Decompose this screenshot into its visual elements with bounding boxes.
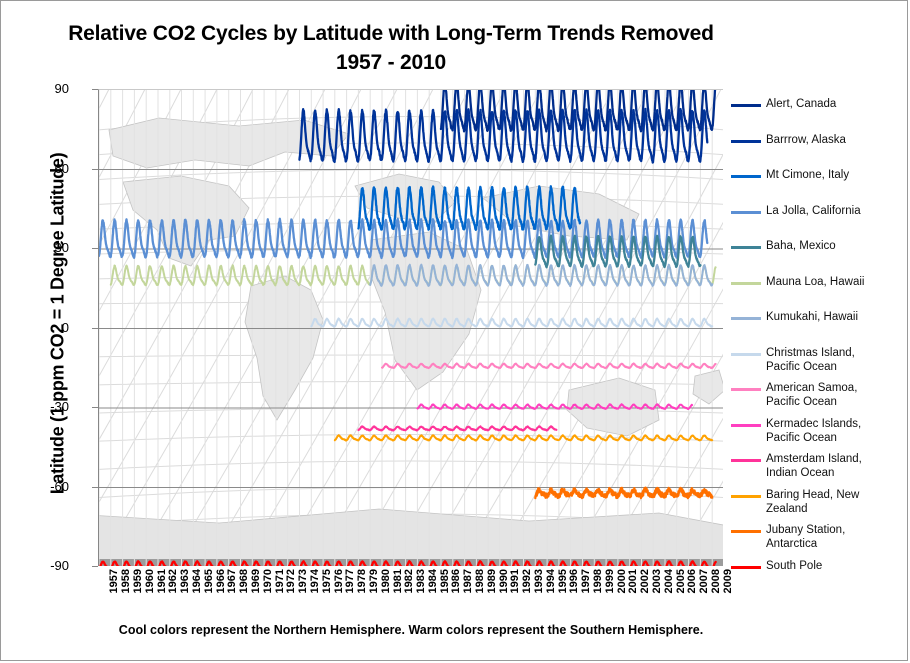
legend-item-label: Jubany Station, Antarctica	[766, 523, 845, 551]
x-axis-tick-label: 1985	[439, 569, 451, 593]
x-axis-tick-label: 2006	[686, 569, 698, 593]
legend-color-swatch	[731, 211, 761, 214]
legend-item[interactable]: American Samoa, Pacific Ocean	[731, 381, 857, 409]
x-axis-tick-label: 1996	[568, 569, 580, 593]
x-axis-tick-label: 1998	[592, 569, 604, 593]
x-axis-tick-label: 1957	[108, 569, 120, 593]
chart-title-line2: 1957 - 2010	[61, 48, 721, 77]
legend-item-label: Mauna Loa, Hawaii	[766, 275, 864, 289]
legend-color-swatch	[731, 246, 761, 249]
x-axis-tick-label: 1979	[368, 569, 380, 593]
x-axis-tick-label: 1984	[427, 569, 439, 593]
x-axis-tick-label: 2007	[698, 569, 710, 593]
y-axis-tick-label: 60	[29, 161, 69, 176]
legend-item-label: Kermadec Islands, Pacific Ocean	[766, 417, 861, 445]
legend-color-swatch	[731, 459, 761, 462]
legend-item[interactable]: Baha, Mexico	[731, 239, 836, 253]
x-axis-tick-label: 2002	[639, 569, 651, 593]
chart-title: Relative CO2 Cycles by Latitude with Lon…	[61, 19, 721, 77]
y-axis-tick-label: -30	[29, 399, 69, 414]
legend-item[interactable]: Kermadec Islands, Pacific Ocean	[731, 417, 861, 445]
legend-item[interactable]: Barrrow, Alaska	[731, 133, 846, 147]
legend-color-swatch	[731, 530, 761, 533]
x-axis-tick-label: 1978	[356, 569, 368, 593]
y-axis-tick-mark	[92, 566, 98, 567]
legend-color-swatch	[731, 317, 761, 320]
x-axis-tick-label: 1961	[156, 569, 168, 593]
x-axis-tick-label: 1990	[498, 569, 510, 593]
legend-item-label: Amsterdam Island, Indian Ocean	[766, 452, 862, 480]
legend-color-swatch	[731, 104, 761, 107]
x-axis-tick-label: 1981	[392, 569, 404, 593]
legend-item-label: Baring Head, New Zealand	[766, 488, 859, 516]
y-axis-tick-label: 0	[29, 320, 69, 335]
x-axis-tick-label: 1966	[215, 569, 227, 593]
legend-item[interactable]: Mt Cimone, Italy	[731, 168, 849, 182]
y-axis-tick-label: -60	[29, 479, 69, 494]
x-axis-tick-label: 1988	[474, 569, 486, 593]
x-axis-tick-label: 1980	[380, 569, 392, 593]
legend-item-label: Barrrow, Alaska	[766, 133, 846, 147]
x-axis-tick-label: 1991	[509, 569, 521, 593]
x-axis-tick-label: 1959	[132, 569, 144, 593]
x-axis-tick-label: 1965	[203, 569, 215, 593]
x-axis-tick-label: 1972	[285, 569, 297, 593]
x-axis-tick-label: 1960	[144, 569, 156, 593]
x-axis-tick-label: 1993	[533, 569, 545, 593]
plot-area	[98, 89, 723, 566]
x-axis-tick-label: 1976	[333, 569, 345, 593]
x-axis-tick-label: 1962	[167, 569, 179, 593]
y-axis-tick-label: 30	[29, 240, 69, 255]
legend-color-swatch	[731, 566, 761, 569]
x-axis-tick-label: 2001	[627, 569, 639, 593]
legend-item-label: Kumukahi, Hawaii	[766, 310, 858, 324]
x-axis-tick-label: 1982	[403, 569, 415, 593]
legend-item-label: Alert, Canada	[766, 97, 836, 111]
legend-color-swatch	[731, 140, 761, 143]
x-axis-tick-label: 1994	[545, 569, 557, 593]
x-axis-tick-label: 1970	[262, 569, 274, 593]
x-axis-tick-label: 2005	[675, 569, 687, 593]
x-axis-tick-label: 1995	[557, 569, 569, 593]
legend-item-label: Mt Cimone, Italy	[766, 168, 849, 182]
chart-title-line1: Relative CO2 Cycles by Latitude with Lon…	[68, 22, 714, 45]
legend-color-swatch	[731, 175, 761, 178]
legend-color-swatch	[731, 424, 761, 427]
x-axis-tick-label: 1997	[580, 569, 592, 593]
x-axis-tick-label: 2008	[710, 569, 722, 593]
x-axis-tick-label: 2000	[616, 569, 628, 593]
footer-note: Cool colors represent the Northern Hemis…	[61, 623, 761, 637]
legend-item[interactable]: Jubany Station, Antarctica	[731, 523, 845, 551]
x-axis-tick-label: 1989	[486, 569, 498, 593]
x-axis-tick-label: 1986	[450, 569, 462, 593]
legend-item[interactable]: Amsterdam Island, Indian Ocean	[731, 452, 862, 480]
legend-item[interactable]: Kumukahi, Hawaii	[731, 310, 858, 324]
plot-series-lines	[99, 90, 723, 566]
x-axis-tick-label: 1974	[309, 569, 321, 593]
legend-item-label: South Pole	[766, 559, 822, 573]
legend-color-swatch	[731, 495, 761, 498]
x-axis-tick-label: 1987	[462, 569, 474, 593]
legend-item[interactable]: Baring Head, New Zealand	[731, 488, 859, 516]
x-axis-tick-label: 1968	[238, 569, 250, 593]
x-axis-tick-label: 1963	[179, 569, 191, 593]
x-axis-tick-label: 1971	[274, 569, 286, 593]
legend-item[interactable]: Mauna Loa, Hawaii	[731, 275, 864, 289]
x-axis-tick-label: 1958	[120, 569, 132, 593]
legend-item-label: Baha, Mexico	[766, 239, 836, 253]
x-axis-tick-label: 1977	[344, 569, 356, 593]
y-axis-tick-label: 90	[29, 81, 69, 96]
legend-item-label: American Samoa, Pacific Ocean	[766, 381, 857, 409]
legend-color-swatch	[731, 282, 761, 285]
x-axis-tick-label: 1999	[604, 569, 616, 593]
x-axis-tick-labels: 1957195819591960196119621963196419651966…	[98, 569, 723, 619]
legend-item-label: La Jolla, California	[766, 204, 861, 218]
legend-color-swatch	[731, 388, 761, 391]
legend-item-label: Christmas Island, Pacific Ocean	[766, 346, 855, 374]
x-axis-tick-label: 1964	[191, 569, 203, 593]
x-axis-tick-label: 2009	[722, 569, 734, 593]
x-axis-tick-label: 1973	[297, 569, 309, 593]
x-axis-tick-label: 2004	[663, 569, 675, 593]
legend-item[interactable]: La Jolla, California	[731, 204, 861, 218]
legend-item[interactable]: Alert, Canada	[731, 97, 836, 111]
x-axis-tick-label: 1969	[250, 569, 262, 593]
legend-item[interactable]: South Pole	[731, 559, 822, 573]
chart-frame: Relative CO2 Cycles by Latitude with Lon…	[0, 0, 908, 661]
x-axis-tick-label: 2003	[651, 569, 663, 593]
y-axis-tick-label: -90	[29, 558, 69, 573]
x-axis-tick-label: 1975	[321, 569, 333, 593]
x-axis-tick-label: 1967	[226, 569, 238, 593]
legend-color-swatch	[731, 353, 761, 356]
x-axis-tick-label: 1992	[521, 569, 533, 593]
legend-item[interactable]: Christmas Island, Pacific Ocean	[731, 346, 855, 374]
x-axis-tick-label: 1983	[415, 569, 427, 593]
